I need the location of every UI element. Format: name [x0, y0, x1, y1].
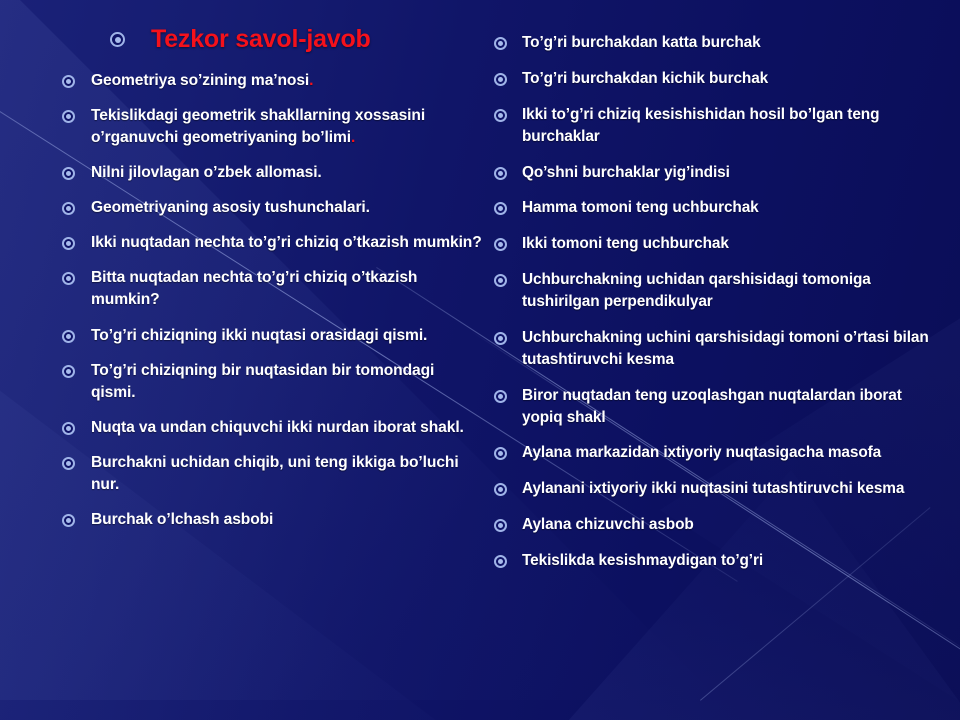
list-item-label: Ikki nuqtadan nechta to’g’ri chiziq o’tk…	[91, 232, 482, 254]
list-item[interactable]: Tekislikda kesishmaydigan to’g’ri	[494, 550, 944, 572]
list-item-label: Uchburchakning uchini qarshisidagi tomon…	[522, 327, 944, 371]
slide-content: Tezkor savol-javob Geometriya so’zining …	[0, 0, 960, 720]
list-item[interactable]: To’g’ri burchakdan kichik burchak	[494, 68, 944, 90]
ring-bullet-icon	[494, 202, 507, 215]
ring-bullet-icon	[494, 483, 507, 496]
ring-bullet-icon	[62, 514, 75, 527]
list-item-label: To’g’ri chiziqning bir nuqtasidan bir to…	[91, 360, 482, 404]
ring-bullet-icon	[62, 167, 75, 180]
list-item[interactable]: To’g’ri burchakdan katta burchak	[494, 32, 944, 54]
list-item-label: To’g’ri burchakdan kichik burchak	[522, 68, 944, 90]
ring-bullet-icon	[62, 202, 75, 215]
list-item[interactable]: To’g’ri chiziqning bir nuqtasidan bir to…	[62, 360, 482, 404]
list-item[interactable]: Uchburchakning uchini qarshisidagi tomon…	[494, 327, 944, 371]
ring-bullet-icon	[494, 519, 507, 532]
list-item-label: To’g’ri chiziqning ikki nuqtasi orasidag…	[91, 325, 482, 347]
ring-bullet-icon	[62, 422, 75, 435]
ring-bullet-icon	[62, 237, 75, 250]
list-item-label: Ikki tomoni teng uchburchak	[522, 233, 944, 255]
ring-bullet-icon	[494, 332, 507, 345]
right-bullet-column: To’g’ri burchakdan katta burchak To’g’ri…	[494, 0, 944, 572]
list-item[interactable]: Uchburchakning uchidan qarshisidagi tomo…	[494, 269, 944, 313]
list-item-label: Burchak o’lchash asbobi	[91, 509, 482, 531]
ring-bullet-icon	[62, 365, 75, 378]
list-item-label: Ikki to’g’ri chiziq kesishishidan hosil …	[522, 104, 944, 148]
list-item[interactable]: To’g’ri chiziqning ikki nuqtasi orasidag…	[62, 325, 482, 347]
list-item[interactable]: Nilni jilovlagan o’zbek allomasi.	[62, 162, 482, 184]
list-item-label: Tekislikdagi geometrik shakllarning xoss…	[91, 105, 482, 149]
list-item-label: Uchburchakning uchidan qarshisidagi tomo…	[522, 269, 944, 313]
ring-bullet-icon	[494, 73, 507, 86]
list-item-label: Geometriya so’zining ma’nosi.	[91, 70, 482, 92]
list-item-label: Bitta nuqtadan nechta to’g’ri chiziq o’t…	[91, 267, 482, 311]
list-item-label: Burchakni uchidan chiqib, uni teng ikkig…	[91, 452, 482, 496]
list-item[interactable]: Tekislikdagi geometrik shakllarning xoss…	[62, 105, 482, 149]
page-title: Tezkor savol-javob	[151, 26, 371, 54]
slide-title-row: Tezkor savol-javob	[110, 26, 482, 54]
ring-bullet-icon	[62, 110, 75, 123]
ring-bullet-icon	[494, 447, 507, 460]
list-item-label: Nilni jilovlagan o’zbek allomasi.	[91, 162, 482, 184]
list-item[interactable]: Burchak o’lchash asbobi	[62, 509, 482, 531]
list-item-label: Aylanani ixtiyoriy ikki nuqtasini tutash…	[522, 478, 944, 500]
ring-bullet-icon	[110, 32, 125, 47]
ring-bullet-icon	[494, 555, 507, 568]
list-item[interactable]: Hamma tomoni teng uchburchak	[494, 197, 944, 219]
list-item-label: Aylana markazidan ixtiyoriy nuqtasigacha…	[522, 442, 944, 464]
ring-bullet-icon	[494, 274, 507, 287]
list-item[interactable]: Ikki nuqtadan nechta to’g’ri chiziq o’tk…	[62, 232, 482, 254]
list-item[interactable]: Bitta nuqtadan nechta to’g’ri chiziq o’t…	[62, 267, 482, 311]
ring-bullet-icon	[494, 37, 507, 50]
ring-bullet-icon	[494, 167, 507, 180]
ring-bullet-icon	[62, 457, 75, 470]
list-item-label: Qo’shni burchaklar yig’indisi	[522, 162, 944, 184]
red-period: .	[309, 72, 313, 89]
list-item[interactable]: Nuqta va undan chiquvchi ikki nurdan ibo…	[62, 417, 482, 439]
list-item[interactable]: Geometriyaning asosiy tushunchalari.	[62, 197, 482, 219]
ring-bullet-icon	[62, 75, 75, 88]
red-period: .	[351, 129, 355, 146]
list-item[interactable]: Ikki to’g’ri chiziq kesishishidan hosil …	[494, 104, 944, 148]
left-bullet-column: Tezkor savol-javob Geometriya so’zining …	[62, 0, 482, 532]
slide-canvas: Tezkor savol-javob Geometriya so’zining …	[0, 0, 960, 720]
ring-bullet-icon	[62, 330, 75, 343]
list-item-label: Tekislikda kesishmaydigan to’g’ri	[522, 550, 944, 572]
list-item[interactable]: Burchakni uchidan chiqib, uni teng ikkig…	[62, 452, 482, 496]
ring-bullet-icon	[494, 109, 507, 122]
list-item[interactable]: Aylanani ixtiyoriy ikki nuqtasini tutash…	[494, 478, 944, 500]
list-item[interactable]: Aylana chizuvchi asbob	[494, 514, 944, 536]
list-item[interactable]: Geometriya so’zining ma’nosi.	[62, 70, 482, 92]
list-item-label: Nuqta va undan chiquvchi ikki nurdan ibo…	[91, 417, 482, 439]
list-item[interactable]: Ikki tomoni teng uchburchak	[494, 233, 944, 255]
list-item-label: Geometriyaning asosiy tushunchalari.	[91, 197, 482, 219]
list-item-label: Hamma tomoni teng uchburchak	[522, 197, 944, 219]
list-item-label: Aylana chizuvchi asbob	[522, 514, 944, 536]
list-item[interactable]: Aylana markazidan ixtiyoriy nuqtasigacha…	[494, 442, 944, 464]
ring-bullet-icon	[494, 238, 507, 251]
list-item-label: To’g’ri burchakdan katta burchak	[522, 32, 944, 54]
ring-bullet-icon	[62, 272, 75, 285]
list-item[interactable]: Qo’shni burchaklar yig’indisi	[494, 162, 944, 184]
list-item[interactable]: Biror nuqtadan teng uzoqlashgan nuqtalar…	[494, 385, 944, 429]
list-item-label: Biror nuqtadan teng uzoqlashgan nuqtalar…	[522, 385, 944, 429]
ring-bullet-icon	[494, 390, 507, 403]
